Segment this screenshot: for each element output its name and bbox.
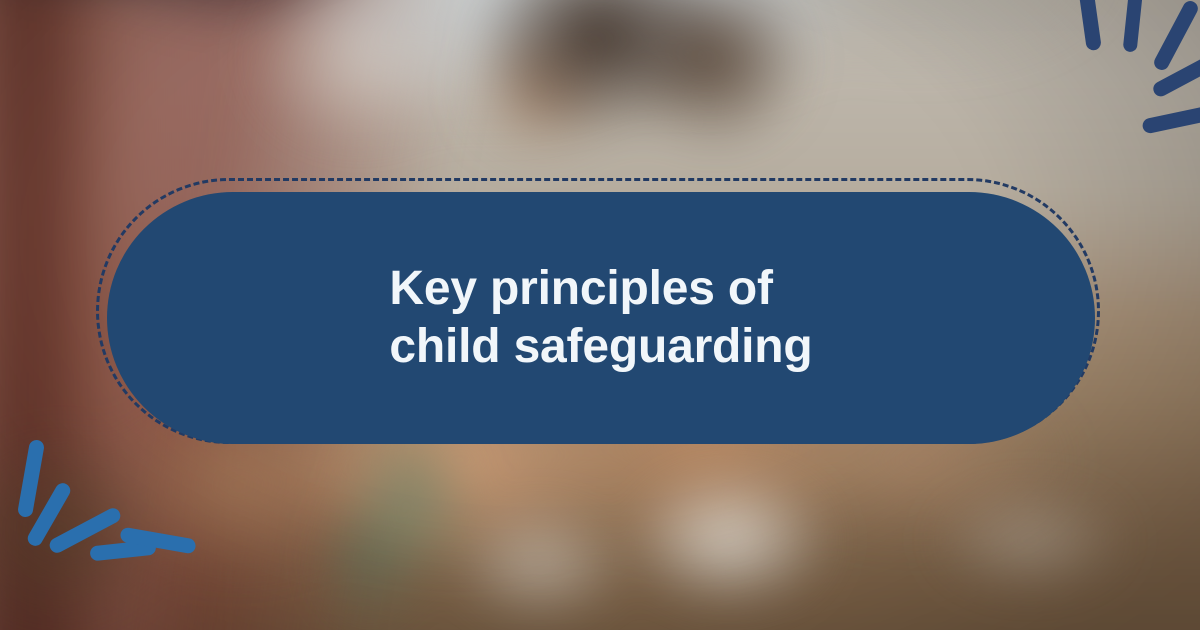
- headline-card: Key principles of child safeguarding: [107, 192, 1095, 444]
- social-card-canvas: Key principles of child safeguarding: [0, 0, 1200, 630]
- page-title: Key principles of child safeguarding: [349, 260, 852, 376]
